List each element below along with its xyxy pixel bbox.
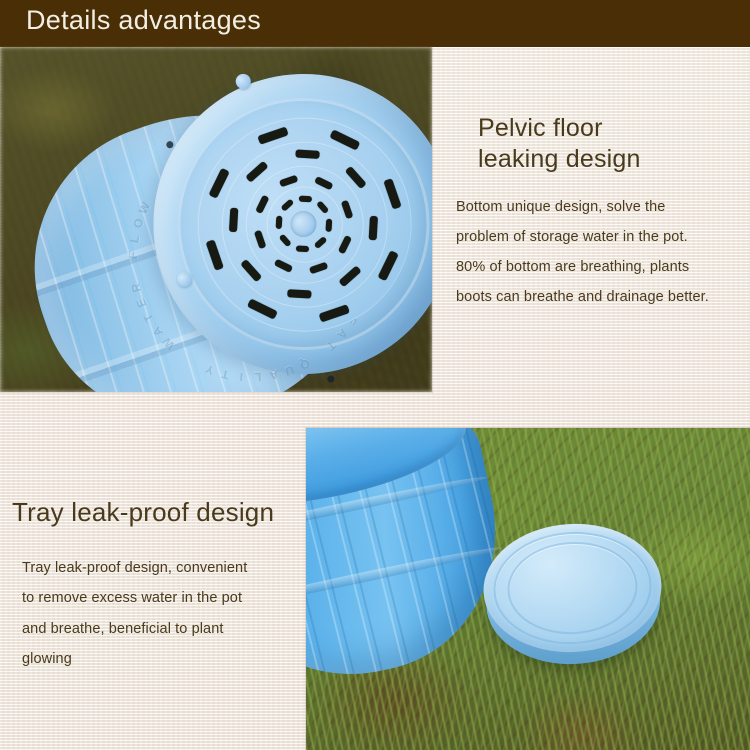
embossed-character: F (126, 249, 140, 259)
pot-with-tray-photo (306, 428, 750, 750)
embossed-character: A (333, 326, 351, 343)
section-pelvic-floor-text: Pelvic floor leaking design Bottom uniqu… (456, 113, 748, 312)
embossed-character: Y (202, 361, 216, 378)
section-heading-tray-leak-proof: Tray leak-proof design (12, 497, 304, 529)
embossed-character: I (237, 369, 244, 383)
embossed-character: E (133, 295, 150, 309)
section-tray-leak-proof-text: Tray leak-proof design Tray leak-proof d… (8, 497, 304, 674)
page-header-bar: Details advantages (0, 0, 750, 47)
embossed-character: Q (295, 356, 311, 374)
embossed-character: W (136, 198, 154, 216)
body-line: Bottom unique design, solve the (456, 192, 748, 222)
embossed-character: W (158, 333, 177, 352)
body-line: 80% of bottom are breathing, plants (456, 252, 748, 282)
body-line: glowing (22, 644, 304, 674)
embossed-character: O (130, 215, 147, 230)
embossed-character: L (127, 232, 142, 244)
drip-tray (480, 519, 666, 676)
body-line: Tray leak-proof design, convenient (22, 553, 304, 583)
pot-bottom-drainage-photo: GREATQUALITYWATERFLOW (0, 47, 432, 392)
embossed-character: T (218, 366, 230, 382)
section-body-pelvic-floor: Bottom unique design, solve the problem … (456, 192, 748, 312)
embossed-character: T (140, 309, 157, 324)
pot-pinhole-2 (326, 375, 335, 384)
body-line: problem of storage water in the pot. (456, 222, 748, 252)
heading-line-1: Pelvic floor (478, 113, 748, 144)
body-line: and breathe, beneficial to plant (22, 614, 304, 644)
section-body-tray-leak-proof: Tray leak-proof design, convenient to re… (22, 553, 304, 675)
embossed-character: U (281, 363, 296, 380)
embossed-character: A (266, 367, 279, 383)
section-heading-pelvic-floor: Pelvic floor leaking design (478, 113, 748, 174)
body-line: to remove excess water in the pot (22, 583, 304, 613)
embossed-character: R (128, 280, 144, 294)
heading-line-1: Tray leak-proof design (12, 497, 304, 529)
embossed-character: T (322, 338, 338, 355)
embossed-character: L (252, 370, 262, 384)
body-line: boots can breathe and drainage better. (456, 282, 748, 312)
heading-line-2: leaking design (478, 144, 748, 175)
page-title: Details advantages (26, 5, 261, 36)
